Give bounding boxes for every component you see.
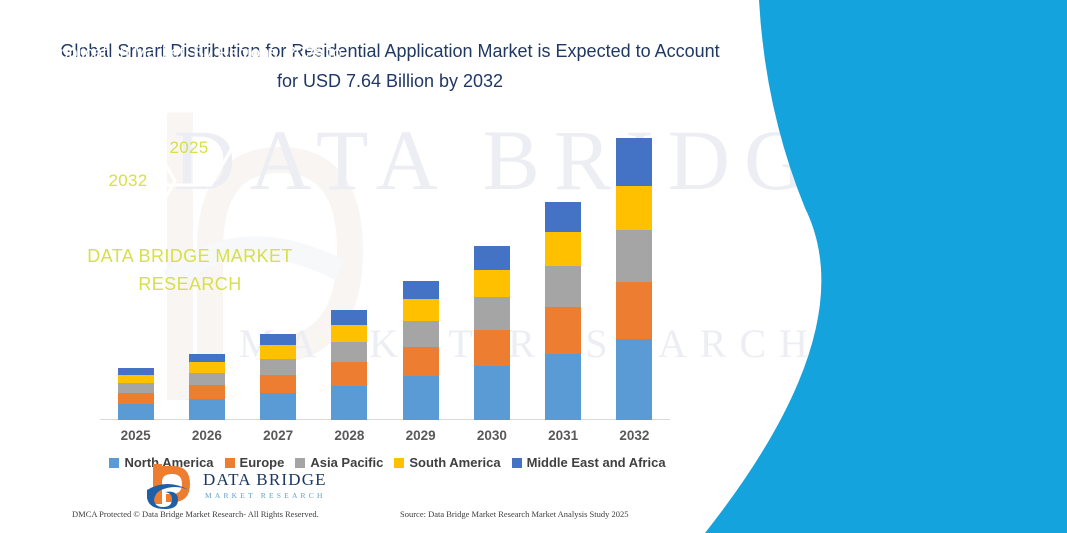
bar-segment-asia-pacific xyxy=(616,230,652,282)
bar-segment-south-america xyxy=(545,232,581,266)
bar-segment-asia-pacific xyxy=(403,321,439,347)
legend-label: Middle East and Africa xyxy=(527,455,666,470)
legend-label: South America xyxy=(409,455,500,470)
bar-segment-middle-east-and-africa xyxy=(616,138,652,186)
bar-segment-europe xyxy=(616,282,652,339)
data-bridge-logo: DATA BRIDGE MARKET RESEARCH xyxy=(145,458,360,514)
data-bridge-logo-mark-icon xyxy=(145,460,197,510)
bar-column-2031 xyxy=(528,130,599,420)
bar-segment-south-america xyxy=(403,299,439,320)
bar-segment-europe xyxy=(545,307,581,353)
legend-item-south-america[interactable]: South America xyxy=(394,455,500,470)
x-axis-label-2029: 2029 xyxy=(385,428,456,443)
bar-column-2030 xyxy=(456,130,527,420)
bar-segment-north-america xyxy=(474,366,510,420)
bar-segment-south-america xyxy=(616,186,652,230)
bar-column-2029 xyxy=(385,130,456,420)
bar-segment-north-america xyxy=(403,376,439,420)
bar-segment-north-america xyxy=(616,339,652,420)
stacked-bar xyxy=(545,202,581,420)
bar-segment-europe xyxy=(474,330,510,367)
bar-segment-north-america xyxy=(545,354,581,420)
brand-panel-content: Global Smart Distribution for Residentia… xyxy=(0,0,380,533)
data-bridge-logo-subtitle: MARKET RESEARCH xyxy=(205,491,326,500)
bar-column-2032 xyxy=(599,130,670,420)
panel-title: Global Smart Distribution for Residentia… xyxy=(30,16,360,91)
brand-name: DATA BRIDGE MARKET RESEARCH xyxy=(40,242,340,298)
bar-segment-south-america xyxy=(474,270,510,297)
x-axis-label-2032: 2032 xyxy=(599,428,670,443)
x-axis-label-2031: 2031 xyxy=(528,428,599,443)
data-bridge-logo-text: DATA BRIDGE xyxy=(203,470,327,490)
x-axis-label-2030: 2030 xyxy=(456,428,527,443)
brand-panel xyxy=(687,0,1067,533)
legend-swatch-icon xyxy=(512,458,522,468)
bar-segment-asia-pacific xyxy=(545,266,581,307)
legend-item-middle-east-and-africa[interactable]: Middle East and Africa xyxy=(512,455,666,470)
bar-segment-europe xyxy=(403,347,439,377)
bar-segment-middle-east-and-africa xyxy=(545,202,581,232)
bar-segment-middle-east-and-africa xyxy=(403,281,439,300)
source-text: Source: Data Bridge Market Research Mark… xyxy=(400,509,629,519)
bar-segment-middle-east-and-africa xyxy=(474,246,510,270)
stacked-bar xyxy=(474,246,510,420)
hexagon-2025-label: 2025 xyxy=(143,108,235,188)
stacked-bar xyxy=(616,138,652,420)
bar-segment-asia-pacific xyxy=(474,297,510,330)
legend-swatch-icon xyxy=(394,458,404,468)
stacked-bar xyxy=(403,281,439,420)
panel-curve-shape xyxy=(687,0,1067,533)
hexagon-2025: 2025 xyxy=(143,108,235,188)
